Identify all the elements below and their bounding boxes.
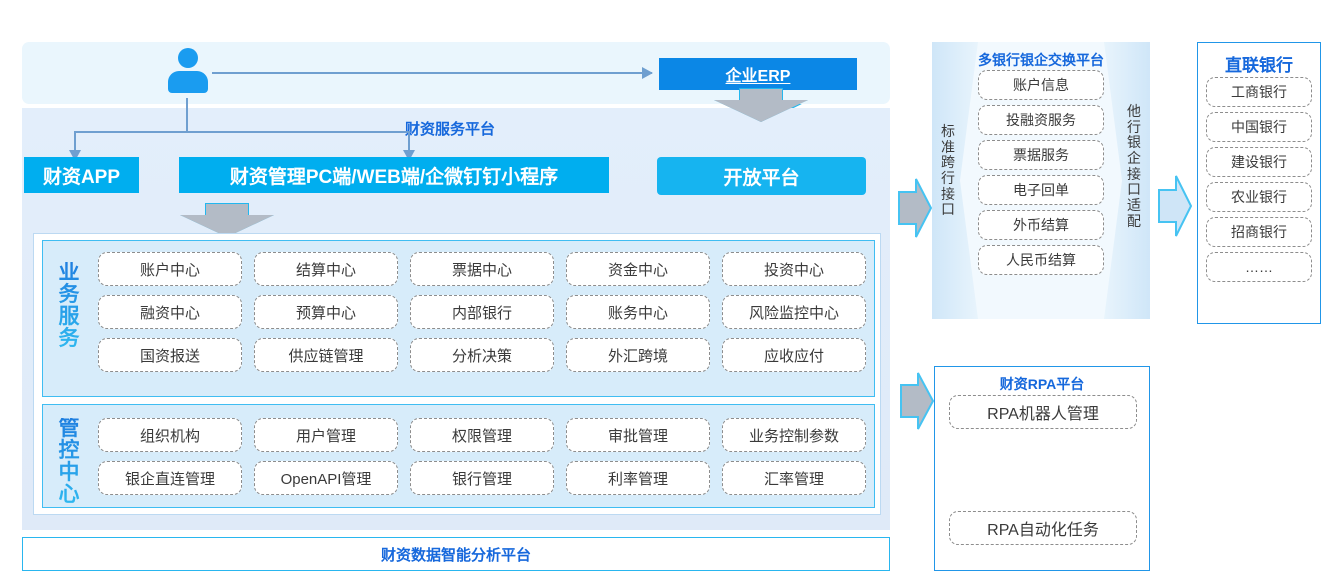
business-service-item[interactable]: 结算中心 <box>254 252 398 286</box>
business-service-item[interactable]: 账务中心 <box>566 295 710 329</box>
multibank-service-item[interactable]: 票据服务 <box>978 140 1104 170</box>
direct-banks-panel: 直联银行 工商银行中国银行建设银行农业银行招商银行…… <box>1197 42 1321 324</box>
control-center-item[interactable]: 组织机构 <box>98 418 242 452</box>
multibank-service-item[interactable]: 投融资服务 <box>978 105 1104 135</box>
enterprise-erp-box[interactable]: 企业ERP <box>659 58 857 90</box>
business-services-vertical-label: 业务服务 <box>54 262 84 350</box>
business-service-item[interactable]: 外汇跨境 <box>566 338 710 372</box>
enterprise-erp-label: 企业ERP <box>726 62 791 86</box>
business-service-item[interactable]: 国资报送 <box>98 338 242 372</box>
connector-user-to-erp-arrow-icon <box>212 72 652 74</box>
direct-banks-list: 工商银行中国银行建设银行农业银行招商银行…… <box>1206 77 1312 282</box>
control-center-item[interactable]: 权限管理 <box>410 418 554 452</box>
control-center-grid: 组织机构用户管理权限管理审批管理业务控制参数银企直连管理OpenAPI管理银行管… <box>98 418 866 495</box>
rpa-robot-management-box[interactable]: RPA机器人管理 <box>949 395 1137 429</box>
connector-arrow-to-pc-icon <box>408 131 410 152</box>
business-service-item[interactable]: 投资中心 <box>722 252 866 286</box>
treasury-app-button[interactable]: 财资APP <box>24 157 139 193</box>
control-center-item[interactable]: 利率管理 <box>566 461 710 495</box>
user-head <box>178 48 198 68</box>
data-analysis-platform-bar[interactable]: 财资数据智能分析平台 <box>22 537 890 571</box>
direct-bank-item[interactable]: …… <box>1206 252 1312 282</box>
multibank-title: 多银行银企交换平台 <box>932 50 1150 70</box>
direct-bank-item[interactable]: 招商银行 <box>1206 217 1312 247</box>
user-icon <box>166 48 210 98</box>
business-service-item[interactable]: 资金中心 <box>566 252 710 286</box>
control-center-item[interactable]: 汇率管理 <box>722 461 866 495</box>
rpa-platform-panel: 财资RPA平台 RPA机器人管理 RPA自动化任务 <box>934 366 1150 571</box>
control-center-item[interactable]: 审批管理 <box>566 418 710 452</box>
down-arrow-icon-erp <box>714 88 808 124</box>
business-service-item[interactable]: 融资中心 <box>98 295 242 329</box>
architecture-diagram: 企业ERP 财资服务平台 财资APP 财资管理PC端/WEB端/企微钉钉小程序 … <box>0 0 1329 580</box>
rpa-automation-task-box[interactable]: RPA自动化任务 <box>949 511 1137 545</box>
business-service-item[interactable]: 分析决策 <box>410 338 554 372</box>
connector-horizontal-main <box>74 131 410 133</box>
multibank-service-item[interactable]: 账户信息 <box>978 70 1104 100</box>
connector-vertical-main <box>186 98 188 132</box>
multibank-list: 账户信息投融资服务票据服务电子回单外币结算人民币结算 <box>978 70 1104 275</box>
business-service-item[interactable]: 账户中心 <box>98 252 242 286</box>
control-center-item[interactable]: 业务控制参数 <box>722 418 866 452</box>
business-service-item[interactable]: 供应链管理 <box>254 338 398 372</box>
multibank-service-item[interactable]: 电子回单 <box>978 175 1104 205</box>
business-service-item[interactable]: 预算中心 <box>254 295 398 329</box>
control-center-item[interactable]: 银企直连管理 <box>98 461 242 495</box>
connector-arrow-to-app-icon <box>74 131 76 152</box>
business-service-item[interactable]: 内部银行 <box>410 295 554 329</box>
control-center-item[interactable]: 用户管理 <box>254 418 398 452</box>
user-body <box>168 71 208 93</box>
control-center-vertical-label: 管控中心 <box>54 418 84 506</box>
business-service-item[interactable]: 应收应付 <box>722 338 866 372</box>
business-service-item[interactable]: 票据中心 <box>410 252 554 286</box>
direct-bank-item[interactable]: 工商银行 <box>1206 77 1312 107</box>
direct-banks-title: 直联银行 <box>1198 51 1320 76</box>
business-service-item[interactable]: 风险监控中心 <box>722 295 866 329</box>
business-services-grid: 账户中心结算中心票据中心资金中心投资中心融资中心预算中心内部银行账务中心风险监控… <box>98 252 866 372</box>
treasury-pc-web-button[interactable]: 财资管理PC端/WEB端/企微钉钉小程序 <box>179 157 609 193</box>
direct-bank-item[interactable]: 农业银行 <box>1206 182 1312 212</box>
multibank-service-item[interactable]: 人民币结算 <box>978 245 1104 275</box>
open-platform-button[interactable]: 开放平台 <box>657 157 866 195</box>
standard-cross-bank-interface-label: 标准跨行接口 <box>938 124 958 218</box>
control-center-item[interactable]: 银行管理 <box>410 461 554 495</box>
direct-bank-item[interactable]: 建设银行 <box>1206 147 1312 177</box>
rpa-title: 财资RPA平台 <box>935 374 1149 394</box>
right-arrow-icon-to-multibank <box>898 176 932 240</box>
other-bank-interface-adapter-label: 他行银企接口适配 <box>1124 104 1144 229</box>
platform-title: 财资服务平台 <box>405 118 495 139</box>
multibank-exchange-panel: 多银行银企交换平台 账户信息投融资服务票据服务电子回单外币结算人民币结算 <box>932 42 1150 319</box>
right-arrow-icon-to-direct-banks <box>1158 172 1192 240</box>
right-arrow-icon-to-rpa <box>900 370 934 432</box>
multibank-service-item[interactable]: 外币结算 <box>978 210 1104 240</box>
direct-bank-item[interactable]: 中国银行 <box>1206 112 1312 142</box>
control-center-item[interactable]: OpenAPI管理 <box>254 461 398 495</box>
